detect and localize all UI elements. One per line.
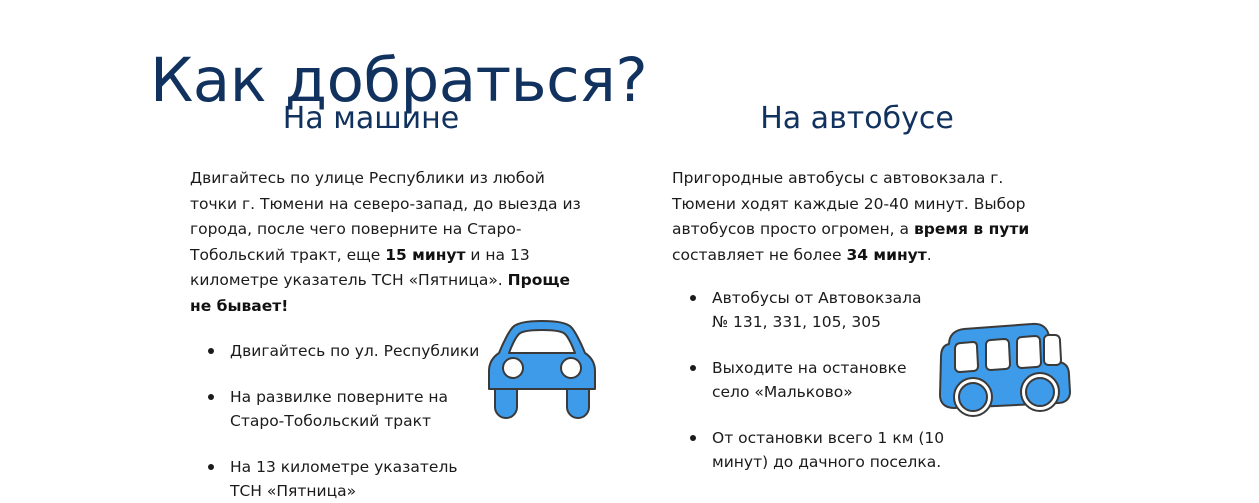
bus-intro-bold-2: 34 минут (846, 246, 926, 264)
section-heading-bus: На автобусе (630, 100, 1100, 138)
bus-intro-bold-1: время в пути (914, 220, 1029, 238)
bullet-line-1: На 13 километре указатель (230, 455, 506, 479)
list-item: На развилке поверните на Старо-Тобольски… (206, 385, 506, 433)
bus-icon (928, 322, 1074, 422)
bullet-line-1: От остановки всего 1 км (10 (712, 426, 978, 450)
column-by-car: На машине Двигайтесь по улице Республики… (150, 100, 620, 503)
bullet-line-2: минут) до дачного поселка. (712, 450, 978, 474)
car-icon (483, 313, 601, 425)
bus-intro-text-3: . (927, 246, 932, 264)
bullet-line-2: ТСН «Пятница» (230, 479, 506, 503)
car-bullet-list: Двигайтесь по ул. Республики На развилке… (206, 339, 506, 503)
bus-intro-paragraph: Пригородные автобусы с автовокзала г. Тю… (672, 166, 1072, 268)
bullet-line-2: Старо-Тобольский тракт (230, 409, 506, 433)
bullet-line-1: На развилке поверните на (230, 385, 506, 409)
bullet-line-1: Двигайтесь по ул. Республики (230, 339, 506, 363)
car-intro-bold-1: 15 минут (385, 246, 465, 264)
section-heading-car: На машине (150, 100, 620, 138)
bus-intro-text-2: составляет не более (672, 246, 846, 264)
list-item: Двигайтесь по ул. Республики (206, 339, 506, 363)
car-intro-paragraph: Двигайтесь по улице Республики из любой … (190, 166, 590, 319)
list-item: От остановки всего 1 км (10 минут) до да… (688, 426, 978, 474)
how-to-get-there-page: Как добраться? На машине Двигайтесь по у… (0, 0, 1259, 497)
list-item: На 13 километре указатель ТСН «Пятница» (206, 455, 506, 503)
bullet-line-1: Автобусы от Автовокзала (712, 286, 978, 310)
